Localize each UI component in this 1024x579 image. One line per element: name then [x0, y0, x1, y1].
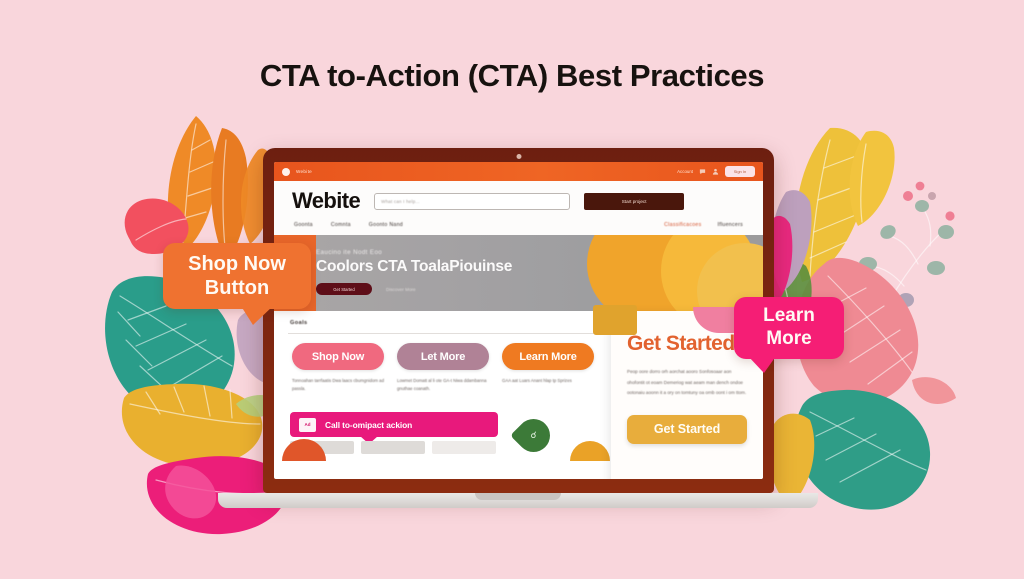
laptop-screen: Webite Account Sign In Webite What can I…	[274, 162, 763, 479]
chat-icon[interactable]	[699, 168, 706, 175]
leaf-pink-bottom-right	[912, 377, 956, 404]
card-decor-gold	[593, 305, 637, 335]
cta-column-1: Shop Now Tonnoahan tarrfaatis Dwa laacs …	[292, 343, 384, 393]
webcam-dot-icon	[516, 154, 521, 159]
topbar-brand-text: Webite	[296, 169, 312, 174]
card-title: Get Started!	[627, 333, 747, 355]
sprig-sage-right	[832, 182, 955, 366]
callout-shop-now-button: Shop Now Button	[163, 243, 311, 309]
callout-shop-line2: Button	[205, 277, 269, 299]
callout-shop-now-text: Shop Now Button	[188, 252, 286, 301]
cta-column-3: Learn More GAA aat Luars Anant hlap tp S…	[502, 343, 594, 393]
hero-kicker: Eaucino ite Nodt Eoo	[316, 249, 763, 256]
leaf-yellow-right	[795, 128, 868, 282]
cta-learn-more-button[interactable]: Learn More	[502, 343, 594, 370]
nav-item-ratings[interactable]: Classificacoes	[664, 222, 701, 228]
hero-secondary-link[interactable]: Discover More	[386, 287, 416, 292]
section-label: Goals	[290, 320, 308, 326]
cta-caption-2: Lowmet Domatt al li ote GA-t Niwa ddamba…	[397, 377, 489, 393]
pin-glyph: ☌	[517, 419, 550, 452]
topbar-account-link[interactable]: Account	[677, 169, 693, 174]
hero-banner: Eaucino ite Nodt Eoo Coolors CTA ToalaPi…	[274, 235, 763, 311]
search-placeholder: What can I help...	[381, 199, 420, 204]
site-header: Webite What can I help... Start project …	[274, 181, 763, 235]
nav-item-2[interactable]: Comnta	[331, 222, 351, 228]
page-title: CTA to-Action (CTA) Best Practices	[0, 58, 1024, 94]
header-row: Webite What can I help... Start project	[292, 188, 745, 214]
search-input[interactable]: What can I help...	[374, 193, 570, 210]
cta-caption-1: Tonnoahan tarrfaatis Dwa laacs cbumgnido…	[292, 377, 384, 393]
cta-column-2: Let More Lowmet Domatt al li ote GA-t Ni…	[397, 343, 489, 393]
leaf-orange-left-2	[211, 128, 248, 262]
site-brand[interactable]: Webite	[292, 188, 360, 214]
cta-caption-3: GAA aat Luars Anant hlap tp Sprizes	[502, 377, 594, 385]
callout-shop-line1: Shop Now	[188, 253, 286, 275]
banner-text: Call to-omipact ackion	[325, 420, 412, 430]
leaf-teal-right	[795, 390, 930, 510]
hero-button-row: Get Started Discover More	[316, 283, 763, 295]
cta-shop-now-button[interactable]: Shop Now	[292, 343, 384, 370]
nav-item-3[interactable]: Goonto Nand	[369, 222, 403, 228]
decor-blob-yellow	[570, 441, 610, 461]
section-divider	[288, 333, 594, 334]
callout-learn-line1: Learn	[763, 305, 815, 326]
page-body: Goals Shop Now Tonnoahan tarrfaatis Dwa …	[274, 311, 763, 453]
header-cta-button[interactable]: Start project	[584, 193, 684, 210]
callout-learn-tail	[748, 356, 776, 373]
callout-learn-line2: More	[766, 328, 811, 349]
nav-right-group: Classificacoes Ifluencers	[664, 222, 743, 228]
card-body-text: Peop oore dorro orh aorchat aooro Sonfos…	[627, 367, 747, 399]
callout-learn-more: Learn More	[734, 297, 844, 359]
poster-canvas: .vein { stroke: #ffffff; stroke-opacity:…	[0, 0, 1024, 579]
circle-logo-icon	[282, 168, 290, 176]
laptop-base	[218, 493, 818, 508]
leaf-orange-left	[168, 116, 216, 256]
callout-shop-tail	[241, 306, 273, 325]
site-nav: Goonta Comnta Goonto Nand Classificacoes…	[292, 214, 745, 235]
laptop-lid: Webite Account Sign In Webite What can I…	[263, 148, 774, 493]
hero-headline: Coolors CTA ToalaPiouinse	[316, 258, 763, 276]
callout-learn-more-text: Learn More	[763, 305, 815, 351]
hero-primary-button[interactable]: Get Started	[316, 283, 372, 295]
topbar-signin-button[interactable]: Sign In	[725, 166, 755, 177]
hero-content: Eaucino ite Nodt Eoo Coolors CTA ToalaPi…	[274, 235, 763, 295]
leaf-yellow-right-2	[850, 131, 895, 226]
leaf-yellow-left	[122, 384, 262, 467]
tile-2[interactable]	[361, 441, 425, 454]
card-get-started-button[interactable]: Get Started	[627, 415, 747, 444]
topbar-right-group: Account Sign In	[677, 166, 755, 177]
laptop-notch	[475, 493, 561, 500]
cta-let-more-button[interactable]: Let More	[397, 343, 489, 370]
nav-item-influencers[interactable]: Ifluencers	[718, 222, 744, 228]
browser-top-bar: Webite Account Sign In	[274, 162, 763, 181]
cta-button-row: Shop Now Tonnoahan tarrfaatis Dwa laacs …	[292, 343, 594, 393]
nav-item-1[interactable]: Goonta	[294, 222, 313, 228]
cta-banner[interactable]: Ad Call to-omipact ackion	[290, 412, 498, 437]
leaf-mauve-right	[771, 190, 811, 292]
leaf-pink-farleft	[165, 465, 216, 518]
tile-3[interactable]	[432, 441, 496, 454]
laptop-mockup: Webite Account Sign In Webite What can I…	[263, 148, 774, 508]
location-pin-icon: ☌	[510, 412, 557, 459]
banner-badge: Ad	[299, 418, 316, 432]
user-icon[interactable]	[712, 168, 719, 175]
